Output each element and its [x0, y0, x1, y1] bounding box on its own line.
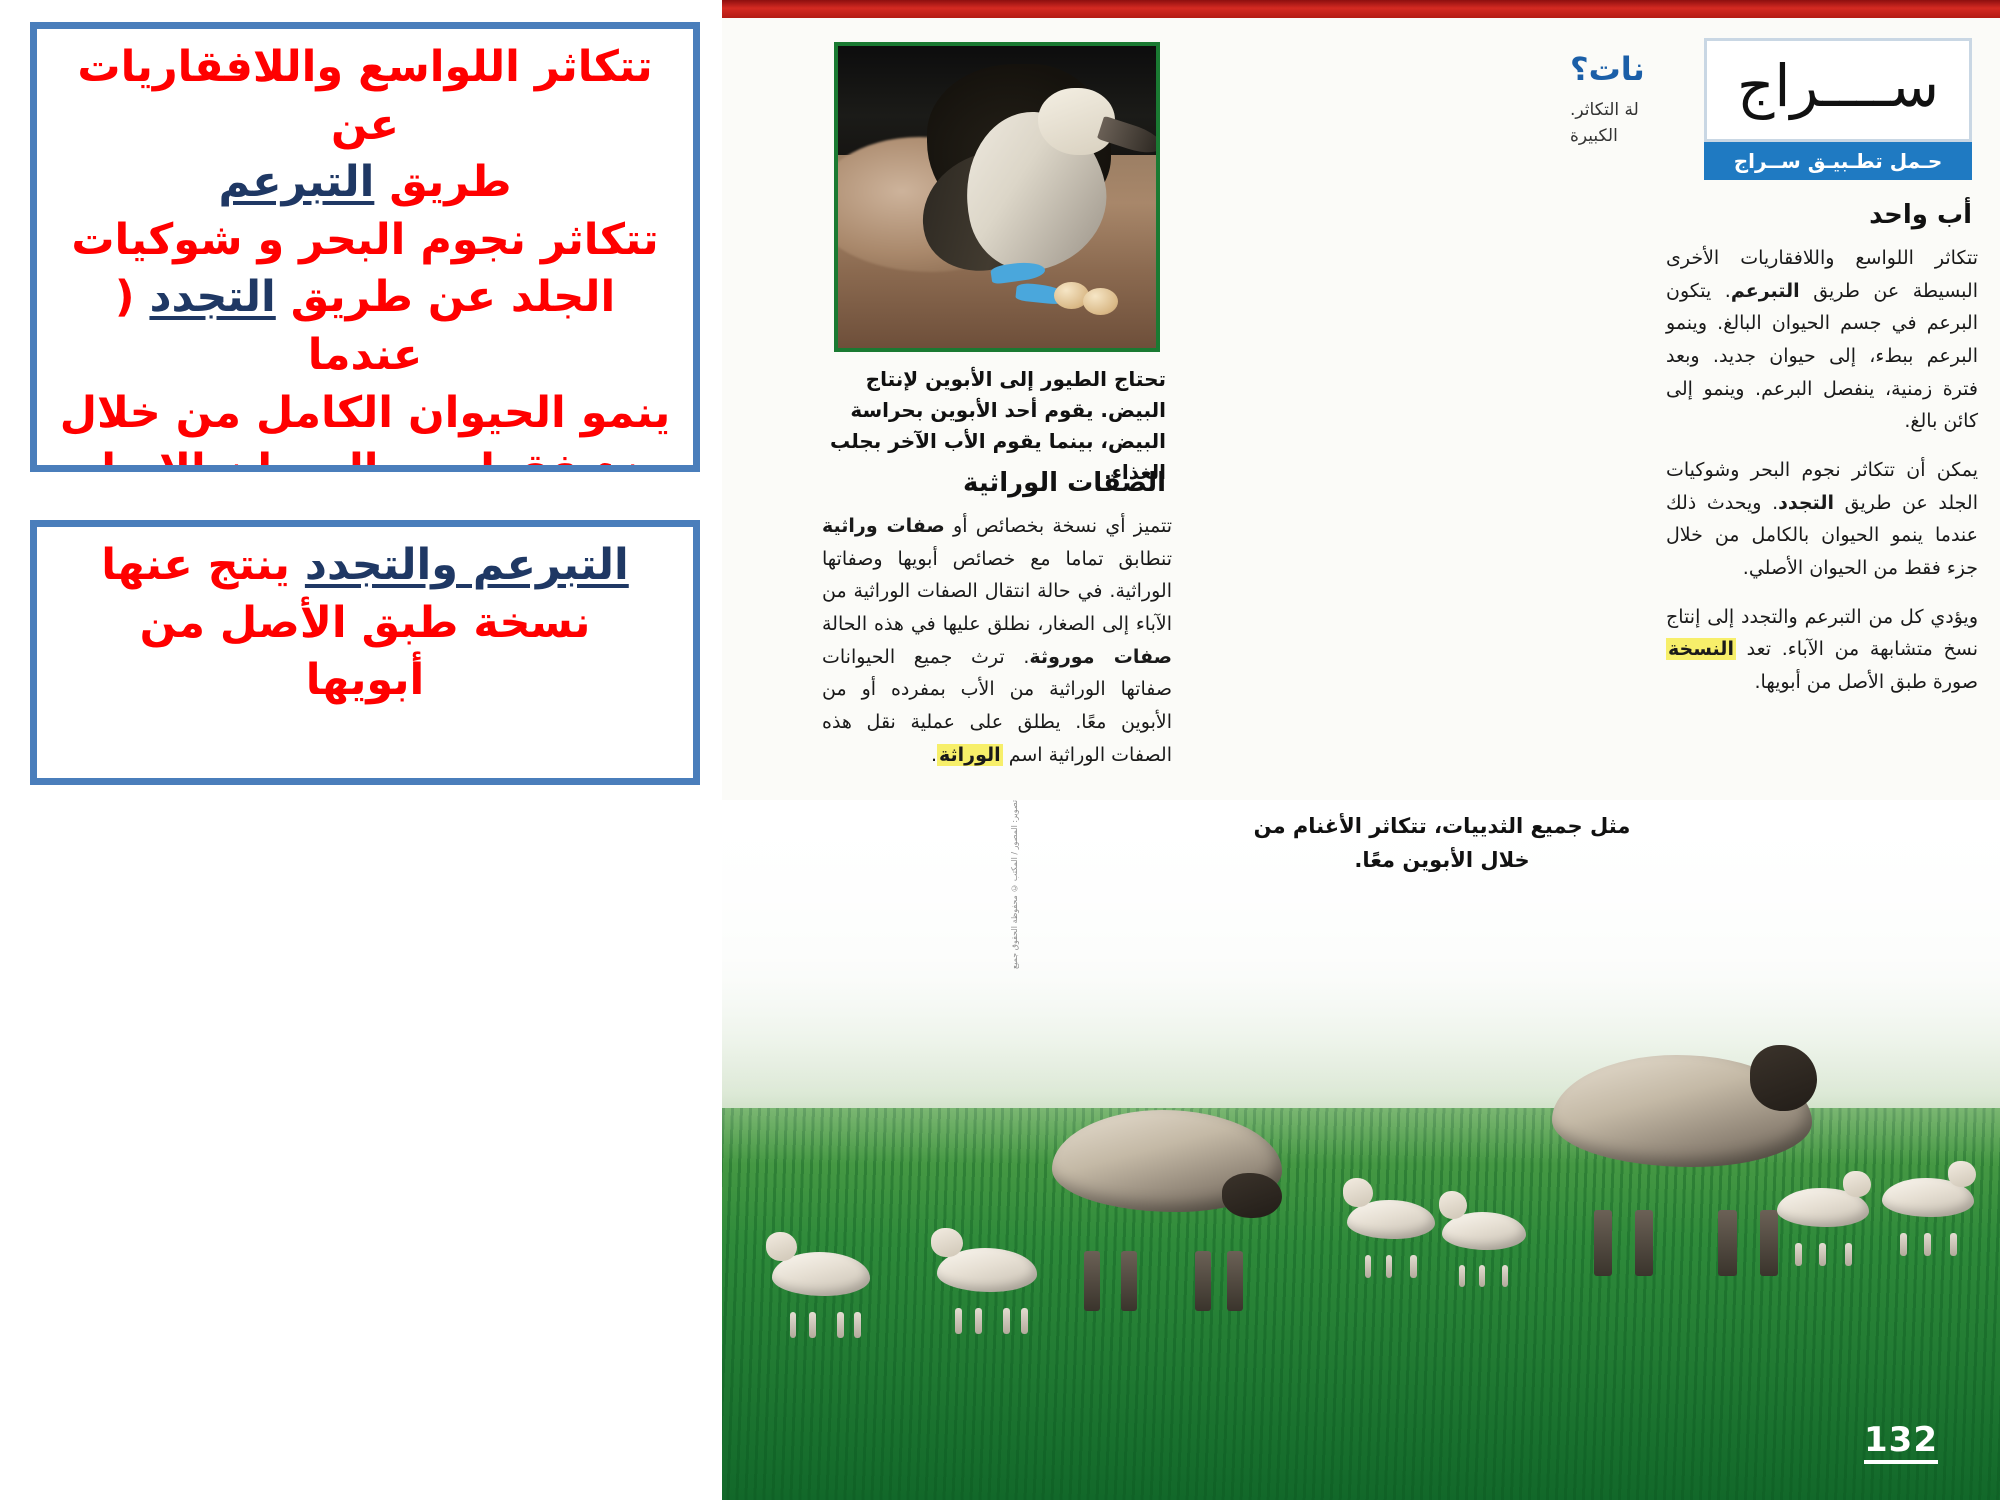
sheep-leg	[1195, 1251, 1211, 1311]
callout-1-line-3: تتكاثر نجوم البحر و شوكيات	[71, 215, 658, 265]
rp1-b: . يتكون البرعم في جسم الحيوان البالغ. وي…	[1666, 280, 1978, 433]
sheep-head	[1750, 1045, 1818, 1111]
blue-heading-fragment: نات؟	[1570, 52, 1700, 87]
lamb-leg	[790, 1312, 797, 1338]
page-top-red-band	[722, 0, 2000, 18]
siraj-logo-block: ســــراج حـمل تطـبيـق ســراج	[1704, 38, 1972, 180]
callout-2-line-2: نسخة طبق الأصل من	[140, 598, 591, 648]
callout-1-line-6: جزء فقط من الحيوان الاصلي )	[56, 445, 673, 472]
lp1-highlight-heredity: الوراثة	[937, 744, 1003, 766]
right-paragraph-3: ويؤدي كل من التبرعم والتجدد إلى إنتاج نس…	[1666, 601, 1978, 699]
sheep-leg	[1635, 1210, 1653, 1276]
callout-2-line-1-suffix: ينتج عنها	[101, 540, 305, 590]
section-heading-inherited-traits: الصفات الوراثية	[830, 468, 1166, 498]
lamb-head	[931, 1228, 963, 1257]
sheep-adult-left	[1052, 1110, 1282, 1260]
screenshot-root: تتكاثر اللواسع واللافقاريات عن طريق التب…	[0, 0, 2000, 1500]
rp3-b: صورة طبق الأصل من أبويها.	[1755, 671, 1978, 693]
callout-1-term-budding: التبرعم	[219, 157, 375, 207]
lamb-3	[1347, 1200, 1435, 1258]
rp1-term-budding: التبرعم	[1731, 280, 1800, 302]
booby-bird-photo	[834, 42, 1160, 352]
sheep-leg	[1084, 1251, 1100, 1311]
sheep-photo-caption: مثل جميع الثدييات، تتكاثر الأغنام من خلا…	[1242, 810, 1642, 877]
left-paragraph-1: تتميز أي نسخة بخصائص أو صفات وراثية تنطا…	[822, 510, 1172, 771]
rp3-highlight-copy: النسخة	[1666, 638, 1736, 660]
sheep-leg	[1718, 1210, 1736, 1276]
blue-subtext-line-1: لة التكاثر.	[1570, 98, 1700, 124]
lamb-leg	[1924, 1233, 1930, 1256]
callout-1-line-5: ينمو الحيوان الكامل من خلال	[60, 388, 671, 438]
lamb-6	[1882, 1178, 1974, 1236]
blue-subtext-line-2: الكبيرة	[1570, 124, 1700, 150]
lamb-head	[1439, 1191, 1468, 1219]
lamb-leg	[1021, 1308, 1028, 1334]
right-paragraph-2: يمكن أن تتكاثر نجوم البحر وشوكيات الجلد …	[1666, 454, 1978, 585]
section-heading-one-parent: أب واحد	[1672, 200, 1972, 230]
callout-1-line-4-prefix: الجلد عن طريق	[276, 272, 615, 322]
lamb-leg	[955, 1308, 962, 1334]
blue-heading-subtext: لة التكاثر. الكبيرة	[1570, 98, 1700, 149]
lp1-term-genetic-traits: صفات وراثية	[822, 515, 945, 537]
lamb-1	[772, 1252, 870, 1316]
lamb-leg	[1795, 1243, 1801, 1266]
lamb-leg	[1365, 1255, 1371, 1278]
callout-1-term-regeneration: التجدد	[149, 272, 275, 322]
callout-1-line-2-prefix: طريق	[374, 157, 511, 207]
siraj-logo-box: ســــراج	[1704, 38, 1972, 142]
lamb-2	[937, 1248, 1037, 1312]
lamb-leg	[809, 1312, 816, 1338]
bird-egg-2	[1083, 288, 1118, 315]
lamb-leg	[1502, 1265, 1508, 1287]
lamb-leg	[837, 1312, 844, 1338]
annotation-callout-2: التبرعم والتجدد ينتج عنها نسخة طبق الأصل…	[30, 520, 700, 785]
sheep-leg	[1594, 1210, 1612, 1276]
sheep-head	[1222, 1173, 1282, 1218]
lamb-leg	[975, 1308, 982, 1334]
lamb-5	[1777, 1188, 1869, 1246]
lamb-leg	[1459, 1265, 1465, 1287]
siraj-wordmark: ســــراج	[1737, 57, 1939, 115]
callout-2-term: التبرعم والتجدد	[305, 540, 629, 590]
lamb-head	[1948, 1161, 1976, 1188]
textbook-page-scan: نات؟ لة التكاثر. الكبيرة ســــراج حـمل ت…	[722, 0, 2000, 1500]
sheep-leg	[1227, 1251, 1243, 1311]
lamb-4	[1442, 1212, 1526, 1268]
siraj-app-download-bar[interactable]: حـمل تطـبيـق ســراج	[1704, 142, 1972, 180]
lamb-head	[1343, 1178, 1373, 1207]
photo-credit-vertical: تصوير: المصور / المكتب © محفوظة الحقوق ج…	[1010, 800, 1019, 1040]
sheep-leg	[1121, 1251, 1137, 1311]
lp1-term-inherited-traits: صفات موروثة	[1029, 646, 1172, 668]
lamb-leg	[1900, 1233, 1906, 1256]
sheep-adult-right	[1552, 1055, 1812, 1220]
sheep-leg	[1760, 1210, 1778, 1276]
callout-2-line-3: أبويها	[306, 655, 425, 705]
right-paragraph-1: تتكاثر اللواسع واللافقاريات الأخرى البسي…	[1666, 242, 1978, 438]
lamb-leg	[1950, 1233, 1956, 1256]
lamb-leg	[1479, 1265, 1485, 1287]
lamb-leg	[854, 1312, 861, 1338]
page-number: 132	[1864, 1423, 1938, 1464]
lamb-leg	[1845, 1243, 1851, 1266]
lamb-leg	[1410, 1255, 1416, 1278]
lamb-leg	[1003, 1308, 1010, 1334]
body-column-left: تتميز أي نسخة بخصائص أو صفات وراثية تنطا…	[822, 510, 1172, 787]
body-column-right: تتكاثر اللواسع واللافقاريات الأخرى البسي…	[1666, 242, 1978, 715]
lamb-head	[1843, 1171, 1871, 1198]
lamb-leg	[1819, 1243, 1825, 1266]
lp1-a: تتميز أي نسخة بخصائص أو	[945, 515, 1172, 537]
callout-1-line-1: تتكاثر اللواسع واللافقاريات عن	[77, 42, 652, 150]
annotation-callout-1: تتكاثر اللواسع واللافقاريات عن طريق التب…	[30, 22, 700, 472]
sheep-field-photo: 132	[722, 800, 2000, 1500]
lp1-b: تنطابق تماما مع خصائص أبويها وصفاتها الو…	[822, 548, 1172, 635]
lamb-leg	[1386, 1255, 1392, 1278]
rp2-term-regeneration: التجدد	[1778, 492, 1834, 514]
